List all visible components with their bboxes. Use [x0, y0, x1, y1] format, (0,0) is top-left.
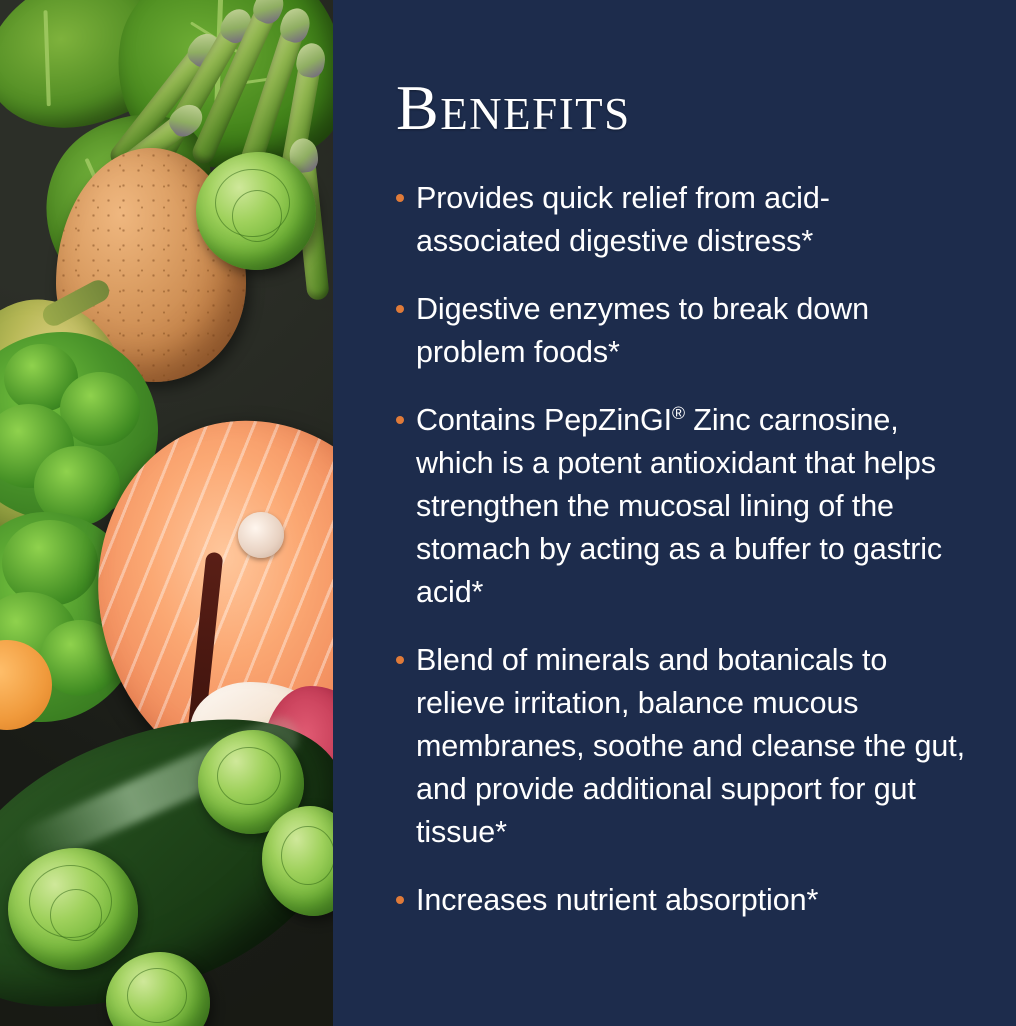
benefits-content: Benefits Provides quick relief from acid…	[333, 0, 1016, 1026]
bullet-dot-icon	[396, 305, 404, 313]
salmon-bone-icon	[238, 512, 284, 558]
registered-trademark-icon: ®	[672, 403, 685, 423]
benefit-text-before-mark: Contains PepZinGI	[416, 403, 672, 437]
benefit-item-nutrient-absorption: Increases nutrient absorption*	[396, 879, 970, 922]
food-photograph	[0, 0, 333, 1026]
benefit-item-pepzingi-zinc-carnosine: Contains PepZinGI® Zinc carnosine, which…	[396, 399, 970, 614]
brussels-sprout-icon	[196, 152, 316, 270]
bullet-dot-icon	[396, 656, 404, 664]
bullet-dot-icon	[396, 896, 404, 904]
page-title: Benefits	[396, 76, 970, 140]
benefit-item-quick-relief: Provides quick relief from acid-associat…	[396, 177, 970, 263]
benefit-text: Contains PepZinGI® Zinc carnosine, which…	[416, 399, 970, 614]
bullet-dot-icon	[396, 416, 404, 424]
bullet-dot-icon	[396, 194, 404, 202]
benefit-text: Provides quick relief from acid-associat…	[416, 177, 970, 263]
benefit-text: Digestive enzymes to break down problem …	[416, 288, 970, 374]
brussels-sprout-icon	[8, 848, 138, 970]
benefit-item-digestive-enzymes: Digestive enzymes to break down problem …	[396, 288, 970, 374]
benefits-panel-page: Benefits Provides quick relief from acid…	[0, 0, 1016, 1026]
benefit-text: Increases nutrient absorption*	[416, 879, 970, 922]
benefit-text: Blend of minerals and botanicals to reli…	[416, 639, 970, 854]
benefit-item-minerals-botanicals-blend: Blend of minerals and botanicals to reli…	[396, 639, 970, 854]
benefits-list: Provides quick relief from acid-associat…	[396, 177, 970, 922]
